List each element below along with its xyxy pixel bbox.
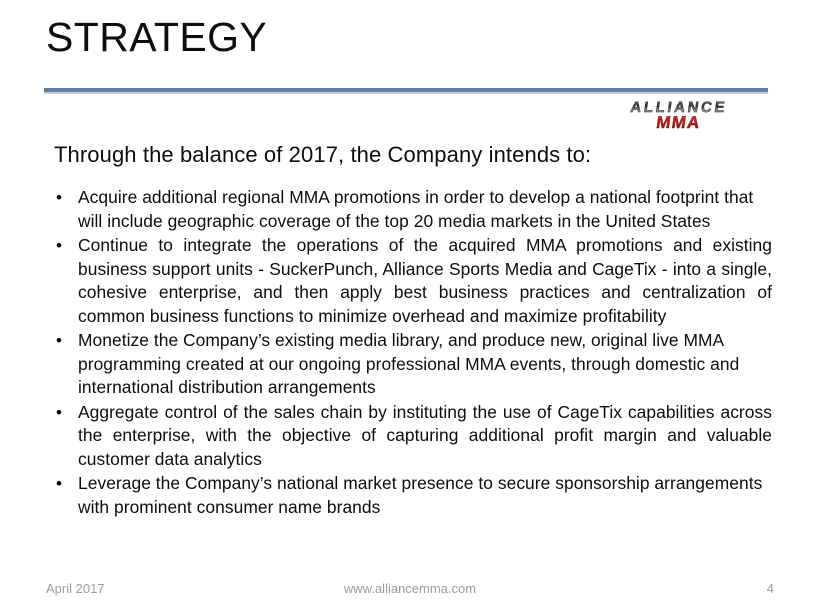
- list-item: • Aggregate control of the sales chain b…: [50, 401, 772, 472]
- alliance-mma-logo: ALLIANCE MMA: [618, 97, 770, 133]
- bullet-dot-icon: •: [50, 472, 78, 496]
- list-item-text: Aggregate control of the sales chain by …: [78, 401, 772, 472]
- bullet-dot-icon: •: [50, 401, 78, 425]
- footer-website: www.alliancemma.com: [0, 581, 820, 596]
- svg-text:MMA: MMA: [655, 113, 702, 132]
- slide-canvas: STRATEGY ALLIANCE: [0, 0, 820, 615]
- bullet-dot-icon: •: [50, 186, 78, 210]
- list-item: • Acquire additional regional MMA promot…: [50, 186, 772, 233]
- list-item-text: Monetize the Company’s existing media li…: [78, 329, 772, 400]
- list-item: • Continue to integrate the operations o…: [50, 234, 772, 328]
- page-title: STRATEGY: [46, 17, 267, 58]
- bullet-dot-icon: •: [50, 329, 78, 353]
- title-divider: [44, 88, 768, 95]
- slide-footer: April 2017 www.alliancemma.com 4: [0, 581, 820, 599]
- footer-page-number: 4: [767, 581, 774, 596]
- list-item: • Monetize the Company’s existing media …: [50, 329, 772, 400]
- list-item-text: Continue to integrate the operations of …: [78, 234, 772, 328]
- title-divider-shadow: [44, 92, 768, 94]
- list-item-text: Acquire additional regional MMA promotio…: [78, 186, 772, 233]
- lead-statement: Through the balance of 2017, the Company…: [54, 142, 591, 168]
- alliance-mma-logo-graphic: ALLIANCE MMA: [618, 97, 770, 133]
- list-item: • Leverage the Company’s national market…: [50, 472, 772, 519]
- strategy-bullet-list: • Acquire additional regional MMA promot…: [50, 186, 772, 520]
- list-item-text: Leverage the Company’s national market p…: [78, 472, 772, 519]
- bullet-dot-icon: •: [50, 234, 78, 258]
